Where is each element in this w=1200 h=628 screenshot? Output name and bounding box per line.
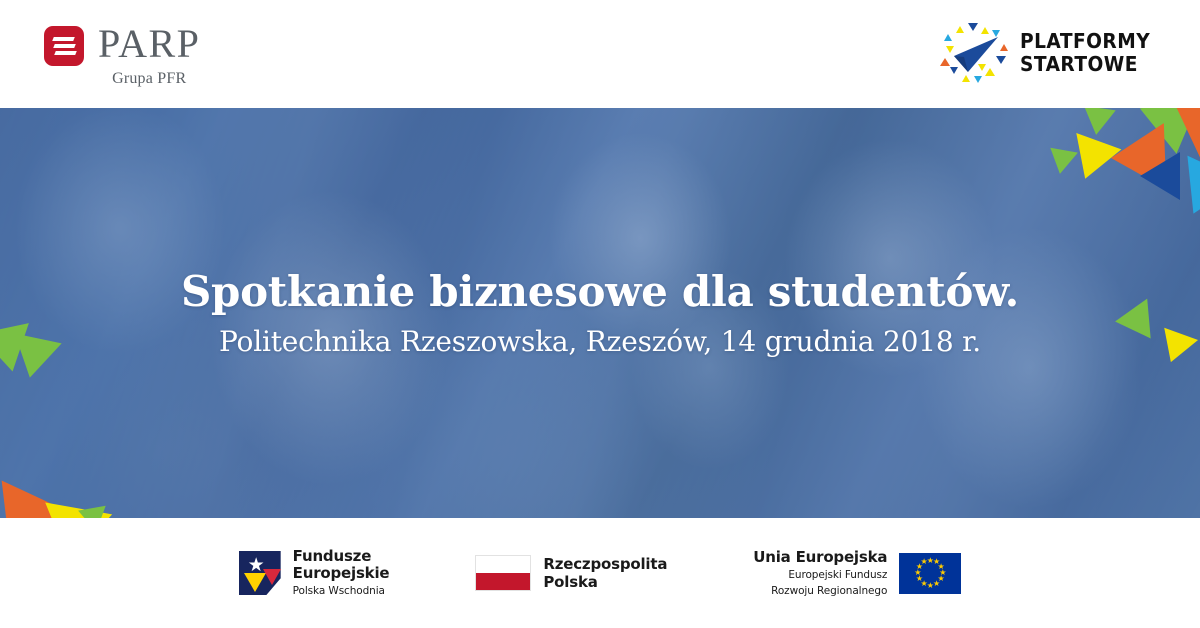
unia-europejska-text: Unia Europejska Europejski Fundusz Rozwo…	[753, 548, 887, 598]
fundusze-europejskie-text: Fundusze Europejskie Polska Wschodnia	[293, 548, 390, 598]
poland-flag-icon	[475, 555, 531, 591]
parp-logo[interactable]: PARP Grupa PFR	[44, 24, 200, 88]
fe-region: Polska Wschodnia	[293, 584, 390, 598]
ps-line2: STARTOWE	[1020, 53, 1150, 76]
pl-line2: Polska	[543, 573, 667, 591]
hero-banner: Spotkanie biznesowe dla studentów. Polit…	[0, 108, 1200, 518]
paper-plane-triangles-icon	[938, 20, 1010, 86]
eu-title: Unia Europejska	[753, 548, 887, 566]
header-bar: PARP Grupa PFR	[0, 0, 1200, 108]
page-subtitle: Politechnika Rzeszowska, Rzeszów, 14 gru…	[219, 324, 981, 360]
rzeczpospolita-polska-logo[interactable]: Rzeczpospolita Polska	[475, 555, 667, 591]
rzeczpospolita-text: Rzeczpospolita Polska	[543, 555, 667, 591]
fe-line1: Fundusze	[293, 548, 390, 565]
eu-star-12: ★	[920, 558, 928, 566]
eu-sub2: Rozwoju Regionalnego	[753, 584, 887, 598]
footer-logos-bar: ★ Fundusze Europejskie Polska Wschodnia …	[0, 518, 1200, 628]
eu-flag-icon: ★★★★★★★★★★★★	[899, 553, 961, 594]
fundusze-europejskie-logo[interactable]: ★ Fundusze Europejskie Polska Wschodnia	[239, 548, 390, 598]
unia-europejska-logo[interactable]: Unia Europejska Europejski Fundusz Rozwo…	[753, 548, 961, 598]
parp-title: PARP	[98, 24, 200, 64]
platformy-startowe-wordmark: PLATFORMY STARTOWE	[1020, 30, 1150, 76]
eu-sub1: Europejski Fundusz	[753, 568, 887, 582]
fe-line2: Europejskie	[293, 565, 390, 582]
fundusze-europejskie-icon: ★	[239, 551, 281, 595]
parp-wordmark: PARP Grupa PFR	[98, 24, 200, 88]
platformy-startowe-logo[interactable]: PLATFORMY STARTOWE	[938, 20, 1160, 86]
hero-text-block: Spotkanie biznesowe dla studentów. Polit…	[0, 108, 1200, 518]
page-title: Spotkanie biznesowe dla studentów.	[181, 266, 1019, 318]
pl-line1: Rzeczpospolita	[543, 555, 667, 573]
parp-subtitle: Grupa PFR	[98, 70, 200, 88]
ps-line1: PLATFORMY	[1020, 30, 1150, 53]
poster-page: PARP Grupa PFR	[0, 0, 1200, 628]
parp-stripes-icon	[44, 26, 84, 66]
